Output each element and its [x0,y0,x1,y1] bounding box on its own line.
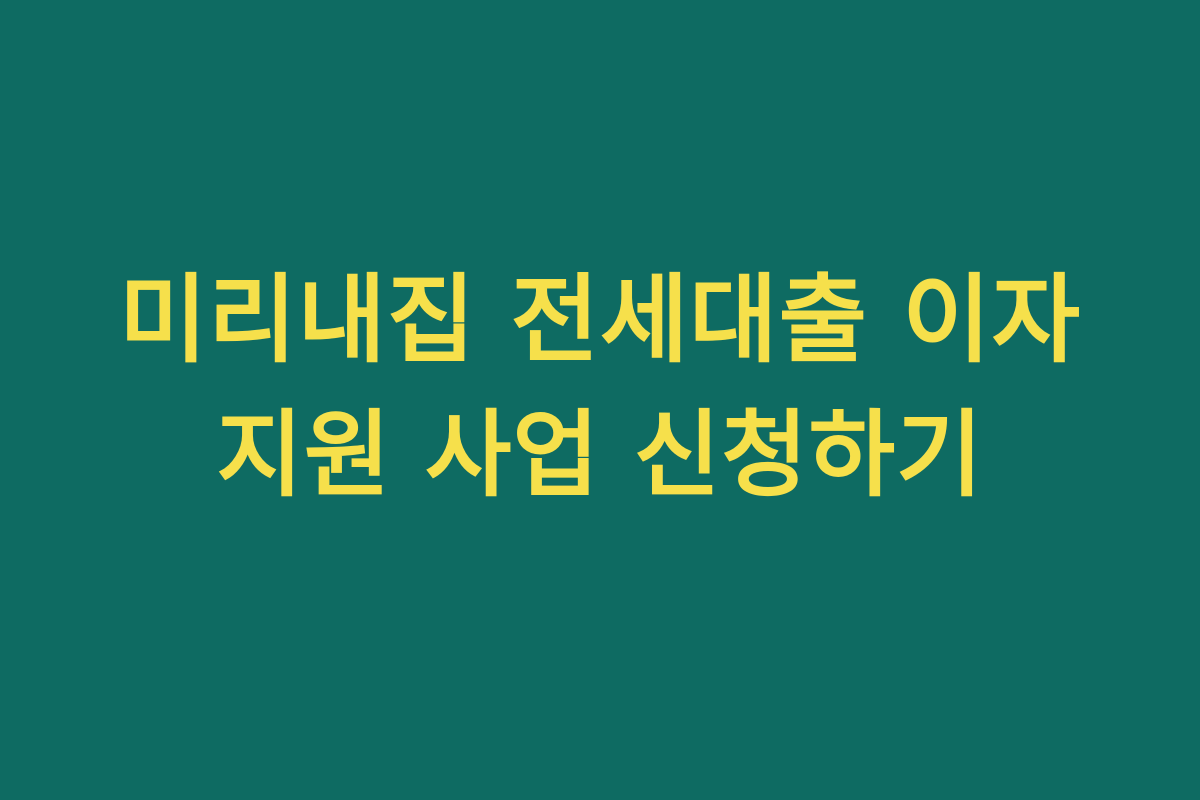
banner-background: 미리내집 전세대출 이자 지원 사업 신청하기 [0,0,1200,800]
banner-title-line-2: 지원 사업 신청하기 [0,388,1200,523]
banner-title-line-1: 미리내집 전세대출 이자 [0,253,1200,388]
banner-title-block: 미리내집 전세대출 이자 지원 사업 신청하기 [0,253,1200,523]
